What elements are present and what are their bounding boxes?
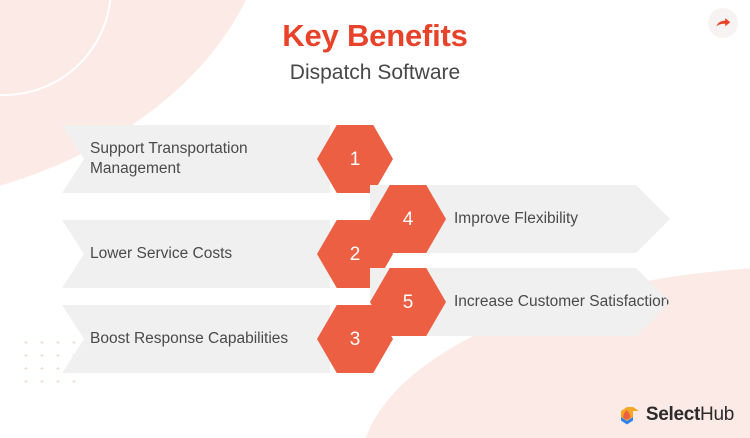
benefit-number-1: 1 [350, 150, 361, 169]
infographic-canvas: Key Benefits Dispatch Software Support T… [0, 0, 750, 438]
benefit-number-3: 3 [350, 330, 361, 349]
benefit-number-2: 2 [350, 245, 361, 264]
benefit-row-2: Lower Service Costs 2 [62, 220, 392, 288]
page-subtitle: Dispatch Software [0, 59, 750, 86]
header: Key Benefits Dispatch Software [0, 18, 750, 86]
benefit-number-4: 4 [403, 210, 414, 229]
selecthub-cube-icon [618, 405, 640, 425]
benefit-label-5: Increase Customer Satisfaction [454, 292, 669, 312]
benefit-row-4: Improve Flexibility 4 [370, 185, 680, 253]
benefit-number-5: 5 [403, 293, 414, 312]
logo-name-light: Hub [700, 404, 734, 425]
benefit-label-3: Boost Response Capabilities [90, 329, 288, 349]
selecthub-logo[interactable]: SelectHub [618, 404, 734, 426]
selecthub-logo-text: SelectHub [646, 404, 734, 426]
benefit-label-4: Improve Flexibility [454, 209, 578, 229]
benefit-row-1: Support Transportation Management 1 [62, 125, 392, 193]
logo-name-bold: Select [646, 404, 700, 425]
benefit-label-2: Lower Service Costs [90, 244, 232, 264]
benefit-banner-2[interactable]: Lower Service Costs [62, 220, 330, 288]
page-title: Key Benefits [0, 18, 750, 54]
benefit-row-3: Boost Response Capabilities 3 [62, 305, 392, 373]
benefit-row-5: Increase Customer Satisfaction 5 [370, 268, 680, 336]
benefit-banner-3[interactable]: Boost Response Capabilities [62, 305, 330, 373]
benefit-label-1: Support Transportation Management [90, 139, 330, 180]
benefit-banner-1[interactable]: Support Transportation Management [62, 125, 330, 193]
